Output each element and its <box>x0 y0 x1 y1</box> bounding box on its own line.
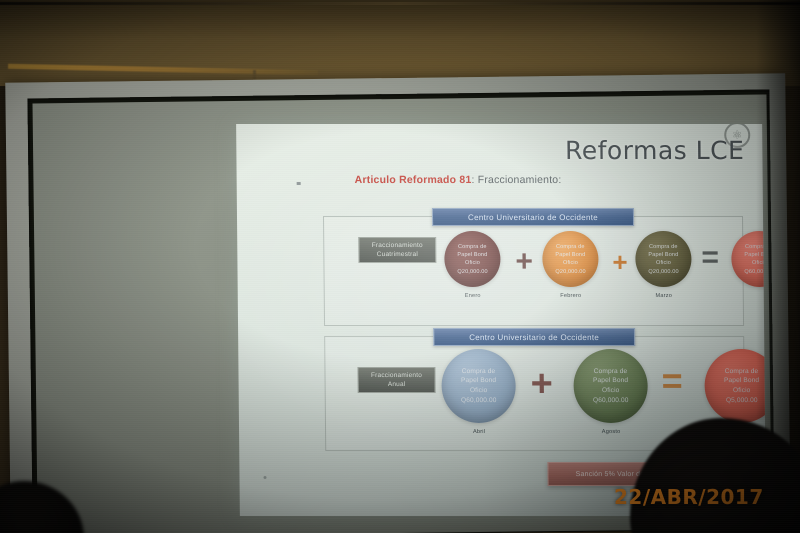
side-tag-line2: Anual <box>388 380 406 389</box>
side-tag-anual: Fraccionamiento Anual <box>357 367 435 393</box>
circle-desc-line3: Oficio <box>602 385 620 394</box>
subtitle-article-label: Articulo Reformado 81 <box>355 174 472 186</box>
circle-desc-line3: Oficio <box>733 385 751 394</box>
operator-plus-1: + <box>515 247 533 277</box>
circle-desc-line3: Oficio <box>465 259 480 267</box>
circle-amount: Q20,000.00 <box>457 268 487 276</box>
circle-amount: Q60,000.00 <box>593 396 629 405</box>
side-tag-line2: Cuatrimestral <box>377 250 418 259</box>
circle-desc-line1: Compra de <box>745 243 766 251</box>
photograph-frame: ⚛ Reformas LCE Articulo Reformado 81: Fr… <box>0 0 800 533</box>
month-label-febrero: Febrero <box>541 293 601 299</box>
circle-amount: Q20,000.00 <box>648 268 678 276</box>
circle-amount: Q20,000.00 <box>555 268 585 276</box>
circle-desc-line2: Papel Bond <box>724 376 759 385</box>
side-tag-line1: Fraccionamiento <box>371 371 422 380</box>
circle-desc-line2: Papel Bond <box>457 251 487 259</box>
slide-corner-mark <box>263 476 266 479</box>
circle-desc-line1: Compra de <box>725 366 759 375</box>
operator-plus-3: + <box>530 365 553 403</box>
circle-desc-line1: Compra de <box>462 366 496 375</box>
ceiling-line <box>0 2 800 5</box>
month-label-enero: Enero <box>443 293 503 299</box>
result-circle-anual: Compra de Papel Bond Oficio Q5,000.00 <box>704 349 766 423</box>
month-label-abril: Abril <box>449 429 509 435</box>
circle-desc-line3: Oficio <box>656 259 671 267</box>
circle-amount: Q60,000.00 <box>744 268 766 276</box>
circle-desc-line2: Papel Bond <box>744 251 766 259</box>
term-circle-agosto: Compra de Papel Bond Oficio Q60,000.00 <box>573 349 648 423</box>
circle-desc-line1: Compra de <box>649 243 678 251</box>
term-circle-febrero: Compra de Papel Bond Oficio Q20,000.00 <box>542 231 599 287</box>
side-tag-line1: Fraccionamiento <box>372 241 423 250</box>
panel-banner-anual: Centro Universitario de Occidente <box>433 328 635 346</box>
page-title: Reformas LCE <box>565 136 745 165</box>
result-circle-cuatrimestral: Compra de Papel Bond Oficio Q60,000.00 <box>731 231 766 287</box>
circle-desc-line2: Papel Bond <box>555 251 585 259</box>
circle-desc-line2: Papel Bond <box>461 376 496 385</box>
panel-banner-cuatrimestral: Centro Universitario de Occidente <box>432 208 634 226</box>
panel-cuatrimestral: Centro Universitario de Occidente Fracci… <box>323 216 744 326</box>
camera-datestamp: 22/ABR/2017 <box>614 485 764 509</box>
subtitle-topic-label: : Fraccionamiento: <box>471 174 561 186</box>
term-circle-marzo: Compra de Papel Bond Oficio Q20,000.00 <box>635 231 692 287</box>
operator-equals-2: = <box>661 363 682 399</box>
term-circle-enero: Compra de Papel Bond Oficio Q20,000.00 <box>444 231 501 287</box>
bullet-dot-icon <box>297 182 301 185</box>
circle-desc-line1: Compra de <box>594 366 628 375</box>
circle-desc-line1: Compra de <box>458 243 487 251</box>
upper-wall-band <box>0 0 800 86</box>
circle-desc-line3: Oficio <box>563 259 578 267</box>
circle-desc-line2: Papel Bond <box>648 251 678 259</box>
side-tag-cuatrimestral: Fraccionamiento Cuatrimestral <box>358 237 436 263</box>
month-label-marzo: Marzo <box>634 293 694 299</box>
circle-desc-line3: Oficio <box>470 385 488 394</box>
circle-desc-line1: Compra de <box>556 243 585 251</box>
month-label-agosto: Agosto <box>581 429 641 435</box>
slide-subtitle: Articulo Reformado 81: Fraccionamiento: <box>355 174 562 186</box>
circle-desc-line2: Papel Bond <box>593 376 628 385</box>
circle-amount: Q60,000.00 <box>461 396 497 405</box>
operator-plus-2: + <box>612 249 627 275</box>
operator-equals-1: = <box>701 243 719 273</box>
circle-amount: Q5,000.00 <box>726 396 758 405</box>
term-circle-abril: Compra de Papel Bond Oficio Q60,000.00 <box>441 349 516 423</box>
